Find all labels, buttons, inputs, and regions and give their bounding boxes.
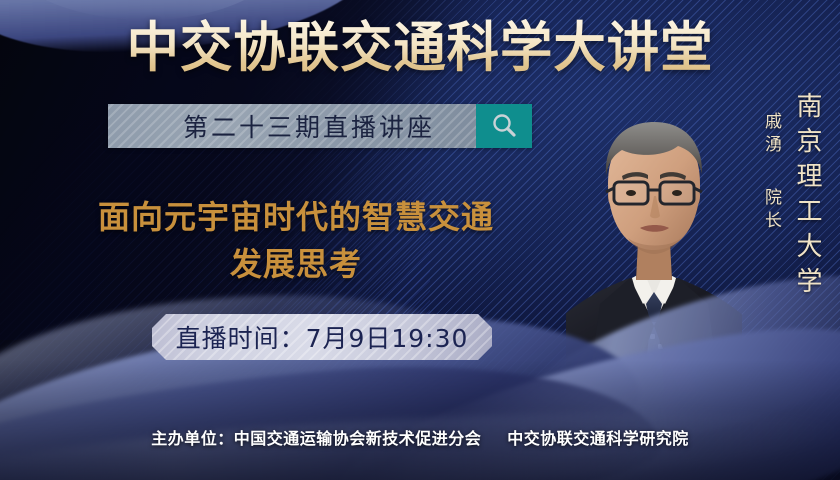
page-title: 中交协联交通科学大讲堂 <box>13 16 828 80</box>
episode-label: 第二十三期直播讲座 <box>149 108 435 144</box>
speaker-name: 戚湧 <box>759 112 784 158</box>
footer-organizer-2: 中交协联交通科学研究院 <box>507 429 689 448</box>
speaker-portrait <box>566 92 742 392</box>
footer-organizer-1: 中国交通运输协会新技术促进分会 <box>234 429 482 448</box>
episode-banner: 第二十三期直播讲座 <box>108 104 532 148</box>
speaker-role: 院长 <box>759 188 784 234</box>
lecture-title-line2: 发展思考 <box>36 241 556 288</box>
footer-prefix: 主办单位： <box>151 429 234 448</box>
search-button[interactable] <box>476 104 532 148</box>
search-icon <box>489 111 519 141</box>
lecture-title-line1: 面向元宇宙时代的智慧交通 <box>36 194 556 241</box>
broadcast-time-label: 直播时间：7月9日19:30 <box>176 319 469 355</box>
footer-organizers: 主办单位：中国交通运输协会新技术促进分会中交协联交通科学研究院 <box>0 425 840 449</box>
episode-banner-band: 第二十三期直播讲座 <box>108 104 476 148</box>
bottom-vignette <box>0 360 840 480</box>
lecture-title: 面向元宇宙时代的智慧交通 发展思考 <box>36 194 556 288</box>
broadcast-time-badge: 直播时间：7月9日19:30 <box>152 314 492 360</box>
speaker-organization: 南京理工大学 <box>789 92 826 302</box>
livestream-poster: 中交协联交通科学大讲堂 第二十三期直播讲座 面向元宇宙时代的智慧交通 发展思考 … <box>0 0 840 480</box>
